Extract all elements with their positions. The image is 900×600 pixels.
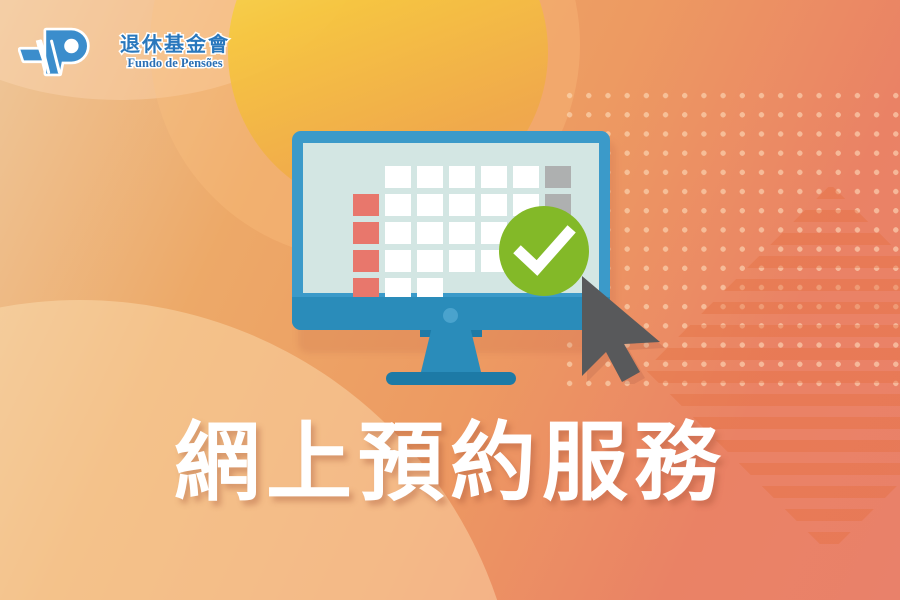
calendar-cell-white[interactable] (385, 250, 411, 272)
monitor-power-dot (443, 308, 458, 323)
calendar-cell-white[interactable] (417, 250, 443, 272)
calendar-row (353, 166, 571, 188)
monitor-body (292, 131, 610, 330)
monitor-screen (303, 143, 599, 293)
logo-wordmark: 退休基金會 Fundo de Pensões (120, 34, 230, 70)
calendar-cell-white[interactable] (385, 194, 411, 216)
monitor-base (386, 372, 516, 385)
calendar-cell-white[interactable] (449, 222, 475, 244)
calendar-cell-white[interactable] (449, 166, 475, 188)
calendar-cell-white[interactable] (417, 194, 443, 216)
calendar-cell-red[interactable] (353, 222, 379, 244)
calendar-cell-white[interactable] (449, 250, 475, 272)
calendar-cell-empty (353, 166, 379, 188)
logo-name-pt: Fundo de Pensões (127, 57, 222, 70)
logo-name-cn: 退休基金會 (120, 34, 230, 54)
calendar-cell-white[interactable] (417, 222, 443, 244)
calendar-cell-white[interactable] (385, 222, 411, 244)
calendar-cell-gray[interactable] (545, 166, 571, 188)
calendar-cell-white[interactable] (481, 166, 507, 188)
banner-headline: 網上預約服務 (0, 418, 900, 508)
calendar-cell-red[interactable] (353, 250, 379, 272)
fp-monogram-icon (18, 24, 114, 80)
calendar-cell-white[interactable] (513, 166, 539, 188)
calendar-cell-red[interactable] (353, 194, 379, 216)
calendar-cell-white[interactable] (385, 166, 411, 188)
mouse-pointer-icon (576, 272, 670, 384)
promo-banner: 退休基金會 Fundo de Pensões (0, 0, 900, 600)
calendar-cell-white[interactable] (449, 194, 475, 216)
monitor-illustration (292, 131, 610, 383)
brand-logo[interactable]: 退休基金會 Fundo de Pensões (18, 24, 230, 80)
calendar-cell-white[interactable] (417, 166, 443, 188)
